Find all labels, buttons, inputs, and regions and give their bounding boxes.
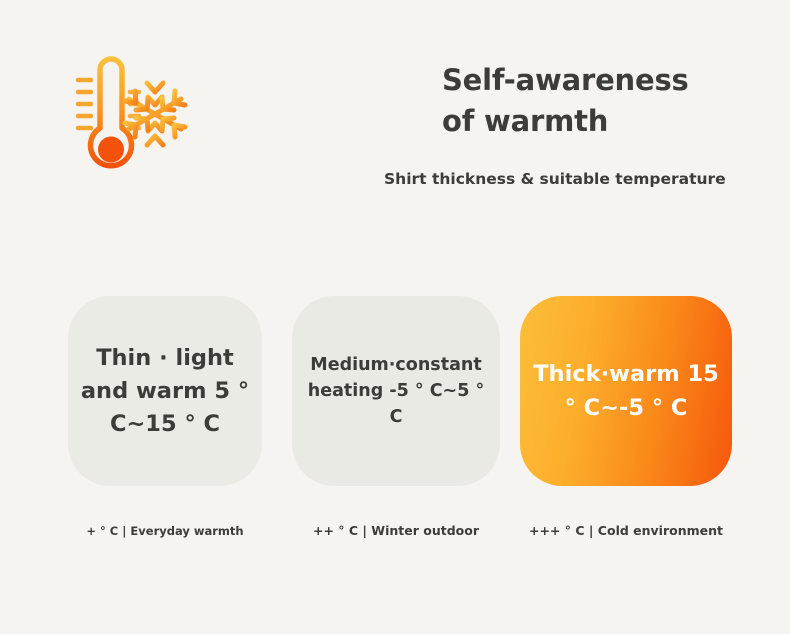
title-line-1: Self-awareness	[442, 60, 772, 101]
caption-thin-light: + ° C | Everyday warmth	[68, 521, 262, 541]
card-thin-light-text: Thin · light and warm 5 ° C~15 ° C	[68, 342, 262, 441]
title-line-2: of warmth	[442, 101, 772, 142]
caption-thick-warm: +++ ° C | Cold environment	[520, 521, 732, 541]
page-subtitle: Shirt thickness & suitable temperature	[384, 168, 726, 190]
header: Self-awareness of warmth Shirt thickness…	[0, 0, 790, 230]
caption-medium-constant: ++ ° C | Winter outdoor	[292, 521, 500, 541]
card-thin-light[interactable]: Thin · light and warm 5 ° C~15 ° C	[68, 296, 262, 486]
page-title: Self-awareness of warmth	[442, 60, 772, 142]
infographic-root: Self-awareness of warmth Shirt thickness…	[0, 0, 790, 634]
card-thick-warm[interactable]: Thick·warm 15 ° C~-5 ° C	[520, 296, 732, 486]
card-medium-constant[interactable]: Medium·constant heating -5 ° C~5 ° C	[292, 296, 500, 486]
warmth-level-cards: Thin · light and warm 5 ° C~15 ° C Mediu…	[0, 296, 790, 486]
card-captions: + ° C | Everyday warmth ++ ° C | Winter …	[0, 521, 790, 545]
thermometer-snowflake-icon	[62, 52, 192, 182]
card-thick-warm-text: Thick·warm 15 ° C~-5 ° C	[520, 357, 732, 425]
card-medium-constant-text: Medium·constant heating -5 ° C~5 ° C	[292, 352, 500, 430]
